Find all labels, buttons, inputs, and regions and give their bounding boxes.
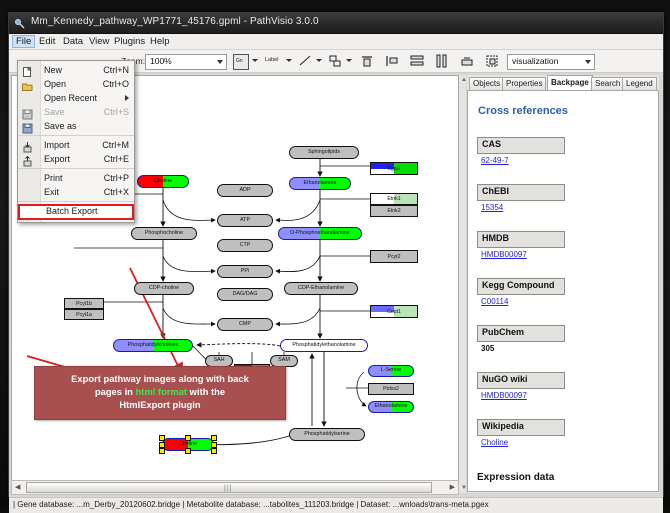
distribute-vertical-icon[interactable] xyxy=(409,53,425,69)
pathway-node[interactable]: PPi xyxy=(217,265,273,278)
xref-link[interactable]: 62-49-7 xyxy=(481,156,509,165)
line-tool-icon[interactable] xyxy=(297,53,313,69)
gene-node[interactable]: Etnk2 xyxy=(370,205,418,217)
hscroll-grip-icon: ||| xyxy=(224,485,232,492)
pathway-node[interactable]: L-Serine xyxy=(368,365,414,377)
chevron-down-icon xyxy=(585,60,591,64)
zoom-value: 100% xyxy=(150,56,172,66)
stack-tool-icon[interactable] xyxy=(459,53,475,69)
gene-node-label: Etnk2 xyxy=(371,206,417,216)
pathway-node[interactable]: ATP xyxy=(217,214,273,227)
file-menu-label: Save as xyxy=(44,121,77,131)
canvas-hscrollbar[interactable]: ◀ ||| ▶ xyxy=(11,480,459,495)
annotation-line-1: Export pathway images along with back xyxy=(71,373,249,384)
xref-header: Wikipedia xyxy=(477,419,565,436)
pathway-node[interactable]: Ethanolamine xyxy=(368,401,414,413)
gene-tool-chevron-icon[interactable] xyxy=(252,59,258,62)
file-menu-item-export[interactable]: ExportCtrl+E xyxy=(18,152,134,166)
shape-tool-icon[interactable] xyxy=(327,53,343,69)
annotation-line-3: HtmlExport plugin xyxy=(119,399,200,410)
scroll-right-icon[interactable]: ▶ xyxy=(450,483,455,491)
xref-source-label: Kegg Compound xyxy=(482,280,555,290)
file-menu-item-open-recent[interactable]: Open Recent xyxy=(18,91,134,105)
xref-header: Kegg Compound xyxy=(477,278,565,295)
file-menu-item-import[interactable]: ImportCtrl+M xyxy=(18,138,134,152)
file-menu-item-batch-export[interactable]: Batch Export xyxy=(18,204,134,220)
gene-node[interactable]: Pcyt1a xyxy=(64,309,104,320)
label-tool-icon[interactable]: Label xyxy=(265,57,278,63)
selection-handle[interactable] xyxy=(159,442,165,448)
file-menu-accelerator: Ctrl+E xyxy=(104,154,129,164)
file-menu-label: Batch Export xyxy=(46,206,98,216)
file-menu-label: New xyxy=(44,65,62,75)
pathway-node-label: CMP xyxy=(239,322,251,327)
submenu-arrow-icon xyxy=(125,95,129,101)
gene-node-label: Ptdss2 xyxy=(369,384,413,394)
pathway-node-label: CDP-choline xyxy=(149,286,179,291)
pathway-node-label: Choline xyxy=(179,442,197,447)
gene-node-label: Pcyt1b xyxy=(65,299,103,308)
file-menu-accelerator: Ctrl+O xyxy=(103,79,129,89)
align-top-icon[interactable] xyxy=(359,53,375,69)
xref-source-label: Wikipedia xyxy=(482,421,524,431)
pathway-node-label: Phosphatidylserine xyxy=(304,432,350,437)
menu-bar: File Edit Data View Plugins Help xyxy=(9,34,663,50)
pathway-node-label: CTP xyxy=(240,243,251,248)
selection-handle[interactable] xyxy=(185,448,191,454)
tab-legend[interactable]: Legend xyxy=(622,77,657,91)
pathway-node-label: Choline xyxy=(154,179,172,184)
annotation-callout: Export pathway images along with back pa… xyxy=(34,366,286,420)
xref-link[interactable]: HMDB00097 xyxy=(481,250,527,259)
selection-handle[interactable] xyxy=(211,435,217,441)
file-menu-label: Print xyxy=(44,173,63,183)
pathway-node-label: L-Serine xyxy=(381,368,401,373)
tab-backpage[interactable]: Backpage xyxy=(547,75,593,91)
pathway-node[interactable]: CMP xyxy=(217,318,273,331)
gene-product-tool-icon[interactable]: Gn xyxy=(233,54,249,70)
pathway-node[interactable]: Phosphatidylserine xyxy=(289,428,365,441)
menu-plugins[interactable]: Plugins xyxy=(110,35,149,48)
menu-separator xyxy=(18,135,134,136)
xref-link[interactable]: 15354 xyxy=(481,203,503,212)
xref-value: 305 xyxy=(481,344,494,353)
pathway-node[interactable]: Ethanolamine xyxy=(289,177,351,190)
gene-node-label: Cept1 xyxy=(371,306,417,317)
import-icon xyxy=(22,140,33,151)
pathway-node[interactable]: Phosphatidylcholines xyxy=(113,339,193,352)
group-tool-icon[interactable] xyxy=(484,53,500,69)
xref-source-label: ChEBI xyxy=(482,186,509,196)
pathway-node[interactable]: Choline xyxy=(137,175,189,188)
xref-source-label: PubChem xyxy=(482,327,524,337)
pathway-node-label: DAG/DAG xyxy=(233,292,258,297)
menu-file[interactable]: File xyxy=(12,35,35,48)
panel-splitter[interactable]: ▲ ▼ xyxy=(459,75,466,493)
menu-separator xyxy=(18,201,134,202)
visualization-combo[interactable]: visualization xyxy=(507,54,595,70)
xref-header: HMDB xyxy=(477,231,565,248)
save-as-icon xyxy=(22,121,33,132)
file-menu-item-save: SaveCtrl+S xyxy=(18,105,134,119)
selection-handle[interactable] xyxy=(211,442,217,448)
menu-help[interactable]: Help xyxy=(146,35,174,48)
title-bar: Mm_Kennedy_pathway_WP1771_45176.gpml - P… xyxy=(9,13,663,34)
pathway-node-label: ADP xyxy=(239,188,250,193)
xref-source-label: NuGO wiki xyxy=(482,374,528,384)
pathvisio-icon xyxy=(14,17,26,29)
expression-data-title: Expression data xyxy=(477,472,554,483)
tab-objects[interactable]: Objects xyxy=(469,77,504,91)
pathway-node[interactable]: ADP xyxy=(217,184,273,197)
export-icon xyxy=(22,154,33,165)
screen-background: Mm_Kennedy_pathway_WP1771_45176.gpml - P… xyxy=(0,0,670,509)
xref-header: CAS xyxy=(477,137,565,154)
xref-source-label: CAS xyxy=(482,139,501,149)
file-menu-accelerator: Ctrl+M xyxy=(102,140,129,150)
file-menu-item-new[interactable]: NewCtrl+N xyxy=(18,63,134,77)
file-menu-label: Open xyxy=(44,79,66,89)
selection-handle[interactable] xyxy=(211,448,217,454)
xref-link[interactable]: HMDB00097 xyxy=(481,391,527,400)
file-menu-accelerator: Ctrl+X xyxy=(104,187,129,197)
backpage-content: Cross references CAS62-49-7ChEBI15354HMD… xyxy=(467,90,659,492)
pathway-node-label: Sphingolipids xyxy=(308,150,340,155)
gene-node[interactable]: Ptdss2 xyxy=(368,383,414,395)
pathway-node[interactable]: CTP xyxy=(217,239,273,252)
cross-references-title: Cross references xyxy=(478,105,568,117)
gene-glyph: Gn xyxy=(236,58,243,64)
gene-node-label: Pcyt1a xyxy=(65,310,103,319)
file-menu-accelerator: Ctrl+P xyxy=(104,173,129,183)
gene-node[interactable]: Cept1 xyxy=(370,305,418,318)
status-bar: | Gene database: ...m_Derby_20120602.bri… xyxy=(9,497,663,513)
align-left-icon[interactable] xyxy=(384,53,400,69)
file-menu-label: Exit xyxy=(44,187,59,197)
file-menu-accelerator: Ctrl+S xyxy=(104,107,129,117)
status-text: | Gene database: ...m_Derby_20120602.bri… xyxy=(13,500,489,509)
gene-node[interactable]: Etnk1 xyxy=(370,193,418,205)
pathway-node-label: SAM xyxy=(278,358,290,363)
file-menu-item-print[interactable]: PrintCtrl+P xyxy=(18,171,134,185)
selection-handle[interactable] xyxy=(159,448,165,454)
file-menu-label: Export xyxy=(44,154,70,164)
xref-header: ChEBI xyxy=(477,184,565,201)
line-tool-chevron-icon[interactable] xyxy=(316,59,322,62)
shape-tool-chevron-icon[interactable] xyxy=(346,59,352,62)
gene-node-label: Sgpl1 xyxy=(371,163,417,174)
open-folder-icon xyxy=(22,79,33,90)
pathway-node-label: Phosphocholine xyxy=(145,231,183,236)
pathway-node[interactable]: DAG/DAG xyxy=(217,288,273,301)
annotation-line-2b: with the xyxy=(187,386,225,397)
pathway-node[interactable]: Phosphocholine xyxy=(131,227,197,240)
visualization-value: visualization xyxy=(512,56,558,66)
menu-data[interactable]: Data xyxy=(59,35,87,48)
side-panel-tabs: Objects Properties Backpage Search Legen… xyxy=(467,75,659,90)
pathway-node[interactable]: CDP-choline xyxy=(134,282,194,295)
pathway-node-label: Ethanolamine xyxy=(304,181,337,186)
pathway-node[interactable]: Sphingolipids xyxy=(289,146,359,159)
gene-node[interactable]: Pcyt2 xyxy=(370,250,418,263)
save-disk-icon xyxy=(22,107,33,118)
tab-properties[interactable]: Properties xyxy=(502,77,546,91)
zoom-combo[interactable]: 100% xyxy=(145,54,227,70)
side-panel: Objects Properties Backpage Search Legen… xyxy=(467,75,659,493)
xref-header: NuGO wiki xyxy=(477,372,565,389)
file-menu-item-exit[interactable]: ExitCtrl+X xyxy=(18,185,134,199)
gene-node[interactable]: Sgpl1 xyxy=(370,162,418,175)
pathway-node-label: Phosphatidylethanolamine xyxy=(292,343,355,348)
label-tool-chevron-icon[interactable] xyxy=(286,59,292,62)
pathway-node[interactable]: Phosphatidylethanolamine xyxy=(280,339,368,352)
new-file-icon xyxy=(22,65,33,76)
pathvisio-window: Mm_Kennedy_pathway_WP1771_45176.gpml - P… xyxy=(8,12,664,497)
distribute-horizontal-icon[interactable] xyxy=(434,53,450,69)
window-title: Mm_Kennedy_pathway_WP1771_45176.gpml - P… xyxy=(31,16,319,27)
pathway-node-label: SAH xyxy=(213,358,224,363)
file-menu-label: Import xyxy=(44,140,70,150)
pathway-node-label: PPi xyxy=(241,269,249,274)
annotation-highlight: html format xyxy=(136,386,188,397)
gene-node[interactable]: Pcyt1b xyxy=(64,298,104,309)
menu-separator xyxy=(18,168,134,169)
gene-node-label: Pcyt2 xyxy=(371,251,417,262)
chevron-down-icon xyxy=(217,60,223,64)
menu-edit[interactable]: Edit xyxy=(35,35,59,48)
pathway-node[interactable]: O-Phosphoethanolamine xyxy=(278,227,362,240)
xref-link[interactable]: Choline xyxy=(481,438,508,447)
pathway-node-label: Phosphatidylcholines xyxy=(128,343,179,348)
file-menu-label: Open Recent xyxy=(44,93,97,103)
file-menu-item-open[interactable]: OpenCtrl+O xyxy=(18,77,134,91)
tab-search[interactable]: Search xyxy=(591,77,624,91)
xref-link[interactable]: C00114 xyxy=(481,297,508,306)
pathway-node-label: CDP-Ethanolamine xyxy=(298,286,344,291)
gene-node-label: Etnk1 xyxy=(371,194,417,204)
xref-header: PubChem xyxy=(477,325,565,342)
annotation-line-2a: pages in xyxy=(95,386,136,397)
scroll-left-icon[interactable]: ◀ xyxy=(15,483,20,491)
pathway-node-label: Ethanolamine xyxy=(375,404,408,409)
selection-handle[interactable] xyxy=(159,435,165,441)
pathway-node[interactable]: CDP-Ethanolamine xyxy=(284,282,358,295)
xref-source-label: HMDB xyxy=(482,233,509,243)
file-menu-popup[interactable]: NewCtrl+NOpenCtrl+OOpen RecentSaveCtrl+S… xyxy=(17,60,135,223)
selection-handle[interactable] xyxy=(185,435,191,441)
file-menu-accelerator: Ctrl+N xyxy=(103,65,129,75)
pathway-node-label: O-Phosphoethanolamine xyxy=(290,231,350,236)
file-menu-label: Save xyxy=(44,107,65,117)
pathway-node-label: ATP xyxy=(240,218,250,223)
file-menu-item-save-as[interactable]: Save as xyxy=(18,119,134,133)
